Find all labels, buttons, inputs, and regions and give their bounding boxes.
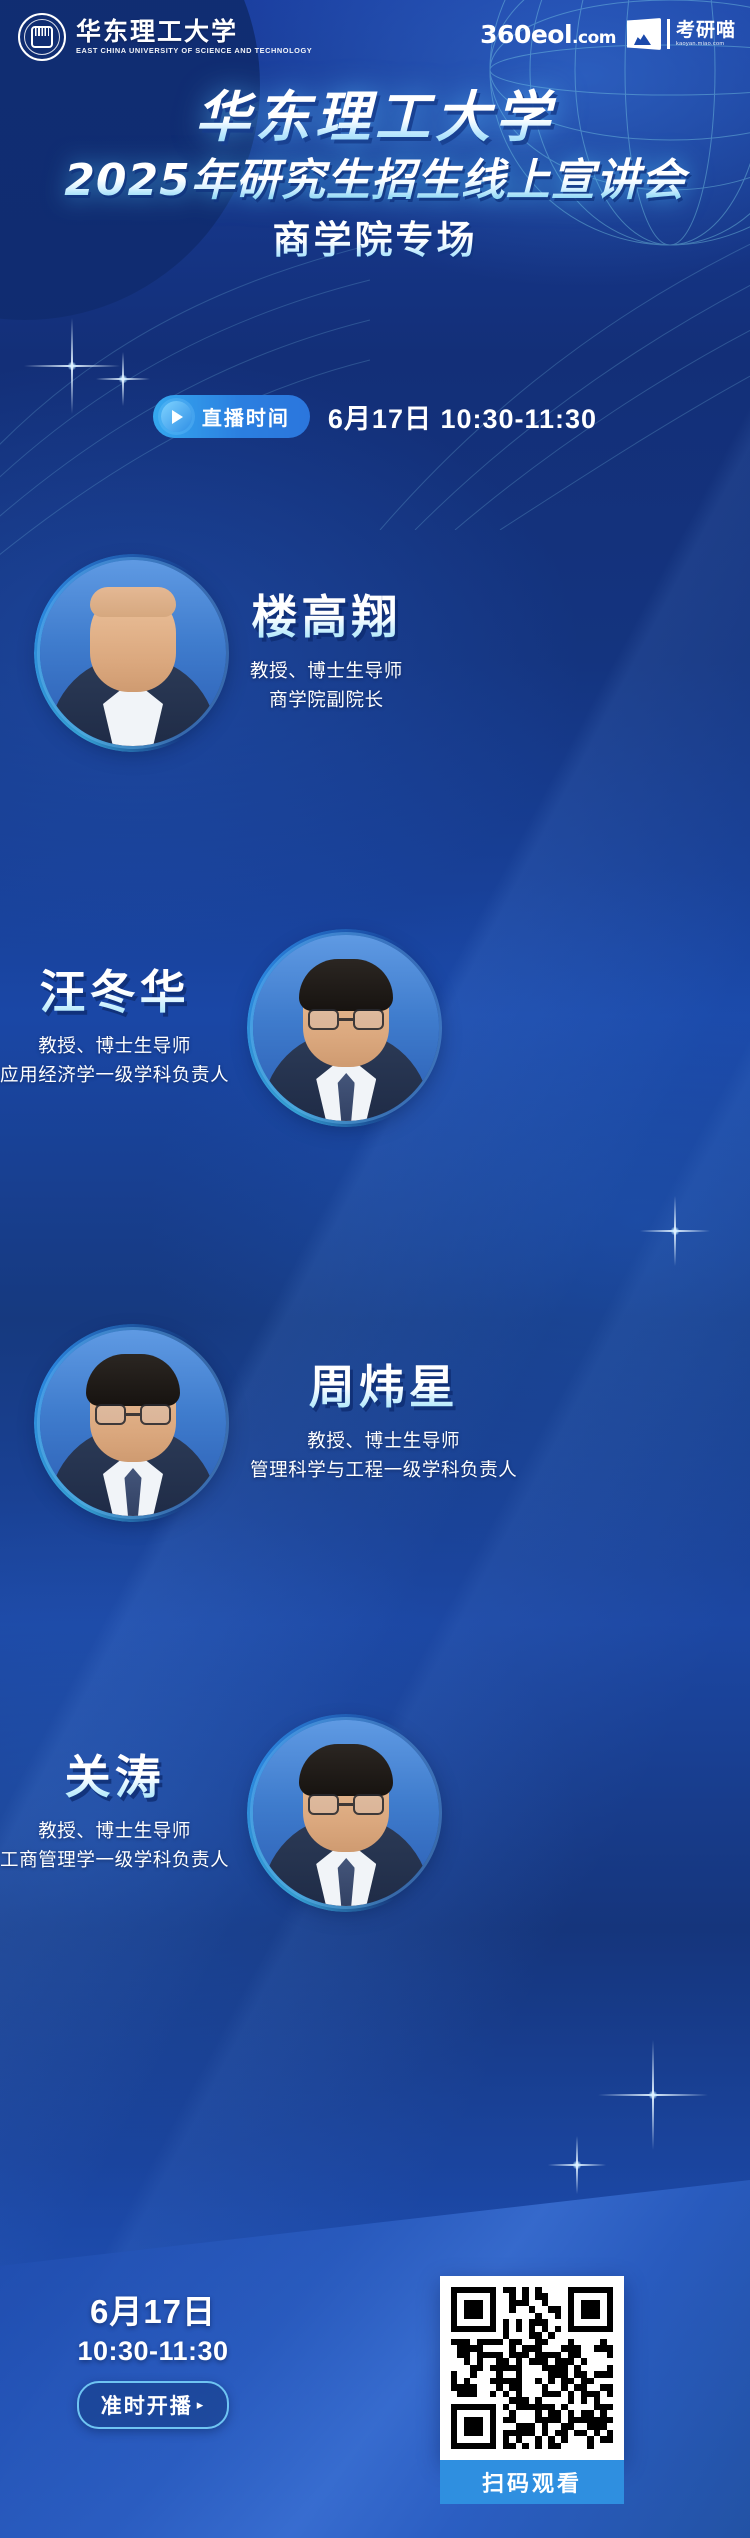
poster-title-sub: 2025年研究生招生线上宣讲会: [0, 157, 750, 205]
sparkle-icon: [640, 1196, 710, 1266]
speaker-title-line1: 教授、博士生导师: [0, 1817, 229, 1846]
speaker-name: 关涛: [65, 1752, 165, 1804]
speaker-name: 汪冬华: [40, 967, 190, 1019]
speaker-title-line2: 工商管理学一级学科负责人: [0, 1846, 229, 1875]
logo-divider: [667, 19, 670, 49]
speaker-title-line1: 教授、博士生导师: [0, 1032, 229, 1061]
speaker-card: 关涛 教授、博士生导师 工商管理学一级学科负责人: [0, 1720, 750, 1906]
speaker-portrait-icon: [253, 935, 439, 1121]
poster-header: 华东理工大学 EAST CHINA UNIVERSITY OF SCIENCE …: [0, 0, 750, 78]
start-on-time-label: 准时开播: [101, 2390, 193, 2420]
live-time-label: 直播时间: [202, 402, 290, 431]
sparkle-icon: [548, 2136, 606, 2194]
university-name-en: EAST CHINA UNIVERSITY OF SCIENCE AND TEC…: [76, 47, 312, 54]
caret-right-icon: ▸: [197, 2397, 206, 2413]
sparkle-icon: [598, 2040, 708, 2150]
footer-date: 6月17日: [58, 2292, 248, 2332]
qr-code-icon[interactable]: [440, 2276, 624, 2460]
university-seal-icon: [18, 13, 66, 61]
partner-360eol-name: 360eol: [480, 20, 572, 49]
poster-footer: 6月17日 10:30-11:30 准时开播 ▸ 扫码观看: [0, 2270, 750, 2538]
speaker-portrait-icon: [253, 1720, 439, 1906]
poster-root: 华东理工大学 EAST CHINA UNIVERSITY OF SCIENCE …: [0, 0, 750, 2538]
speaker-info: 汪冬华 教授、博士生导师 应用经济学一级学科负责人: [0, 967, 229, 1090]
cat-book-icon: [627, 18, 661, 50]
footer-time: 10:30-11:30: [58, 2336, 248, 2367]
speaker-name: 楼高翔: [251, 592, 401, 644]
speaker-titles: 教授、博士生导师 应用经济学一级学科负责人: [0, 1032, 229, 1089]
speaker-title-line2: 管理科学与工程一级学科负责人: [250, 1456, 517, 1485]
play-icon: [161, 401, 192, 432]
start-on-time-button[interactable]: 准时开播 ▸: [77, 2381, 230, 2429]
speaker-title-line1: 教授、博士生导师: [250, 657, 403, 686]
qr-caption: 扫码观看: [440, 2460, 624, 2504]
speaker-portrait-icon: [40, 1330, 226, 1516]
partner-kaoyanmiao-name-cn: 考研喵: [676, 21, 736, 40]
speaker-card: 楼高翔 教授、博士生导师 商学院副院长: [0, 560, 750, 746]
partner-kaoyanmiao-name-en: kaoyan.miao.com: [676, 42, 736, 48]
speaker-card: 汪冬华 教授、博士生导师 应用经济学一级学科负责人: [0, 935, 750, 1121]
qr-card[interactable]: 扫码观看: [440, 2276, 624, 2504]
partner-kaoyanmiao-logo: 考研喵 kaoyan.miao.com: [627, 18, 736, 50]
title-block: 华东理工大学 2025年研究生招生线上宣讲会 商学院专场: [0, 88, 750, 262]
partner-logos: 360eol.com 考研喵 kaoyan.miao.com: [480, 18, 736, 50]
speaker-info: 楼高翔 教授、博士生导师 商学院副院长: [250, 592, 403, 715]
speaker-titles: 教授、博士生导师 商学院副院长: [250, 657, 403, 714]
footer-schedule: 6月17日 10:30-11:30 准时开播 ▸: [58, 2292, 248, 2429]
poster-title-main: 华东理工大学: [0, 88, 750, 147]
university-logo: 华东理工大学 EAST CHINA UNIVERSITY OF SCIENCE …: [18, 13, 312, 61]
speaker-info: 关涛 教授、博士生导师 工商管理学一级学科负责人: [0, 1752, 229, 1875]
speaker-name: 周炜星: [309, 1362, 459, 1414]
university-name-group: 华东理工大学 EAST CHINA UNIVERSITY OF SCIENCE …: [76, 19, 312, 54]
live-time-row: 直播时间 6月17日 10:30-11:30: [0, 395, 750, 438]
speaker-portrait-icon: [40, 560, 226, 746]
poster-title-third: 商学院专场: [0, 220, 750, 262]
speaker-card: 周炜星 教授、博士生导师 管理科学与工程一级学科负责人: [0, 1330, 750, 1516]
wave-lines-right-icon: [320, 230, 750, 530]
speaker-title-line2: 应用经济学一级学科负责人: [0, 1061, 229, 1090]
speaker-info: 周炜星 教授、博士生导师 管理科学与工程一级学科负责人: [250, 1362, 517, 1485]
live-time-value: 6月17日 10:30-11:30: [328, 397, 597, 436]
partner-kaoyanmiao-text: 考研喵 kaoyan.miao.com: [676, 21, 736, 48]
speaker-titles: 教授、博士生导师 管理科学与工程一级学科负责人: [250, 1427, 517, 1484]
speaker-title-line1: 教授、博士生导师: [250, 1427, 517, 1456]
speaker-title-line2: 商学院副院长: [250, 686, 403, 715]
partner-360eol-tld: .com: [572, 28, 616, 48]
live-time-pill: 直播时间: [153, 395, 310, 438]
speaker-titles: 教授、博士生导师 工商管理学一级学科负责人: [0, 1817, 229, 1874]
university-name-cn: 华东理工大学: [76, 19, 312, 44]
partner-360eol-logo: 360eol.com: [480, 22, 616, 47]
